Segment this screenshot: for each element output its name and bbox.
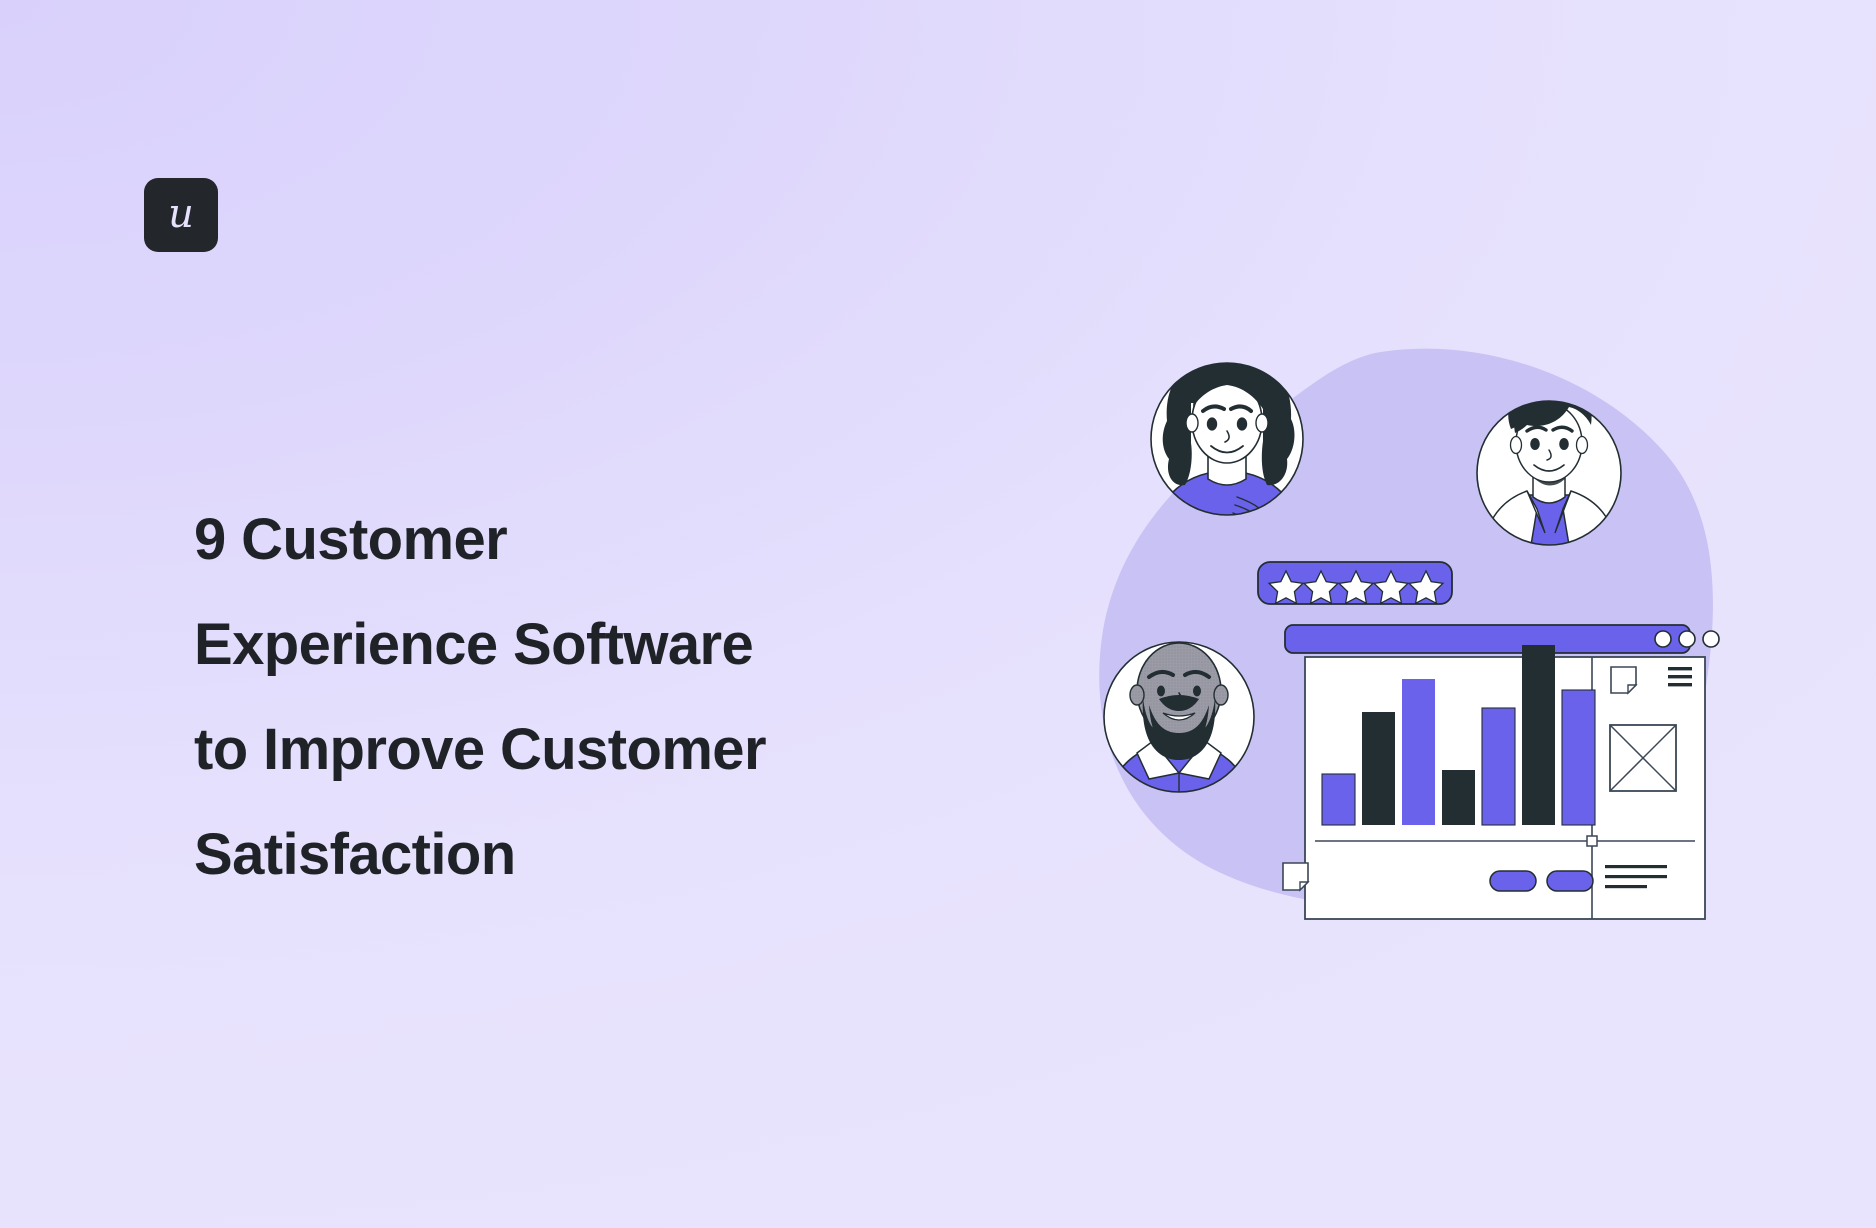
logo-glyph: u	[168, 194, 194, 234]
page-title-line-2: Experience Software	[194, 592, 974, 697]
page-title-line-3: to Improve Customer	[194, 697, 974, 802]
primary-pill-button[interactable]	[1490, 871, 1536, 891]
userpilot-logo[interactable]: u	[144, 178, 218, 252]
bar-6	[1522, 645, 1555, 825]
window-dot-maximize[interactable]	[1679, 631, 1695, 647]
customer-experience-illustration	[1075, 325, 1735, 925]
text-line	[1605, 885, 1647, 888]
window-dot-close[interactable]	[1703, 631, 1719, 647]
hero-banner: u 9 Customer Experience Software to Impr…	[0, 0, 1876, 1228]
page-title: 9 Customer Experience Software to Improv…	[194, 487, 974, 907]
five-star-rating-badge[interactable]	[1258, 562, 1452, 604]
text-line	[1605, 865, 1667, 868]
window-titlebar[interactable]	[1285, 625, 1719, 653]
hamburger-menu-icon[interactable]	[1668, 667, 1692, 686]
bar-1	[1322, 774, 1355, 825]
image-placeholder-icon[interactable]	[1610, 725, 1676, 791]
window-dot-minimize[interactable]	[1655, 631, 1671, 647]
dashboard-window[interactable]	[1283, 625, 1719, 919]
divider-node-handle[interactable]	[1587, 836, 1597, 846]
bar-7	[1562, 690, 1595, 825]
page-corner-icon[interactable]	[1283, 863, 1308, 890]
page-title-line-1: 9 Customer	[194, 487, 974, 592]
bar-4	[1442, 770, 1475, 825]
bar-2	[1362, 712, 1395, 825]
bar-3	[1402, 679, 1435, 825]
page-title-line-4: Satisfaction	[194, 802, 974, 907]
bar-5	[1482, 708, 1515, 825]
text-line	[1605, 875, 1667, 878]
secondary-pill-button[interactable]	[1547, 871, 1593, 891]
document-icon[interactable]	[1611, 667, 1636, 693]
